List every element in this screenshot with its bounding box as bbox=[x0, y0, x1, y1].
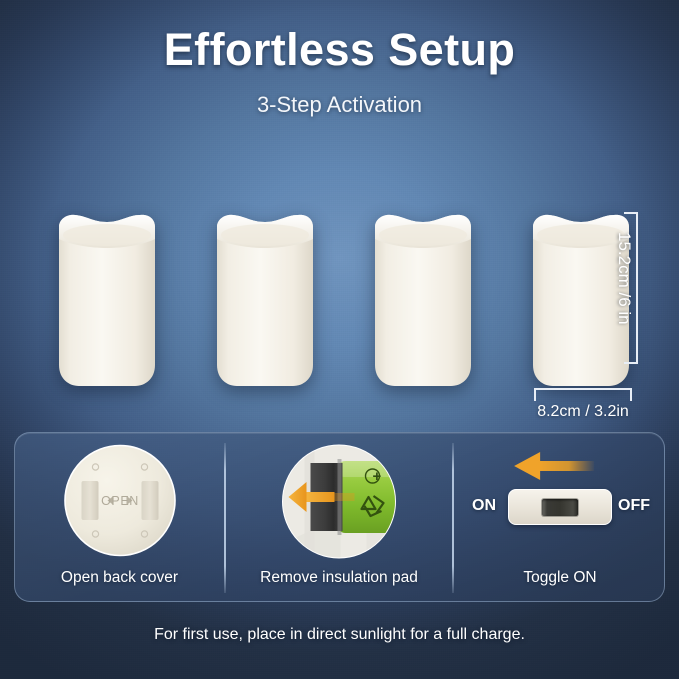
step-3-art: ON OFF bbox=[454, 433, 666, 555]
step-1-label: Open back cover bbox=[15, 569, 224, 587]
svg-text:OPEN: OPEN bbox=[101, 494, 139, 508]
candle-2 bbox=[215, 205, 315, 388]
height-dimension-cap-top bbox=[624, 212, 638, 214]
toggle-slider-handle[interactable] bbox=[542, 499, 578, 516]
footer-note: For first use, place in direct sunlight … bbox=[0, 626, 679, 644]
toggle-switch[interactable] bbox=[508, 489, 612, 525]
battery-cover-icon: OPEN bbox=[62, 443, 177, 558]
page-subtitle: 3-Step Activation bbox=[0, 92, 679, 118]
step-2-art: + bbox=[226, 439, 452, 561]
step-3-label: Toggle ON bbox=[454, 569, 666, 587]
step-1-art: OPEN bbox=[15, 439, 224, 561]
candle-1 bbox=[57, 205, 157, 388]
height-dimension-label: 15.2cm /6 in bbox=[614, 232, 634, 325]
step-2-label: Remove insulation pad bbox=[226, 569, 452, 587]
toggle-on-label: ON bbox=[472, 497, 496, 515]
left-arrow-icon bbox=[510, 451, 596, 481]
page-title: Effortless Setup bbox=[0, 24, 679, 76]
width-dimension-label: 8.2cm / 3.2in bbox=[522, 403, 644, 421]
toggle-off-label: OFF bbox=[618, 497, 650, 515]
height-dimension-cap-bottom bbox=[624, 362, 638, 364]
step-open-back-cover: OPEN Open back cover bbox=[15, 433, 224, 603]
width-dimension-line bbox=[534, 388, 632, 390]
candle-3 bbox=[373, 205, 473, 388]
height-dimension-line bbox=[636, 212, 638, 364]
step-remove-insulation-pad: + Remove bbox=[226, 433, 452, 603]
width-dimension-cap-right bbox=[630, 388, 632, 401]
battery-insulation-icon: + bbox=[281, 443, 398, 560]
candle-row bbox=[0, 200, 679, 400]
steps-panel: OPEN Open back cover bbox=[14, 432, 665, 602]
header: Effortless Setup 3-Step Activation bbox=[0, 24, 679, 118]
step-toggle-on: ON OFF Toggle ON bbox=[454, 433, 666, 603]
width-dimension-cap-left bbox=[534, 388, 536, 401]
